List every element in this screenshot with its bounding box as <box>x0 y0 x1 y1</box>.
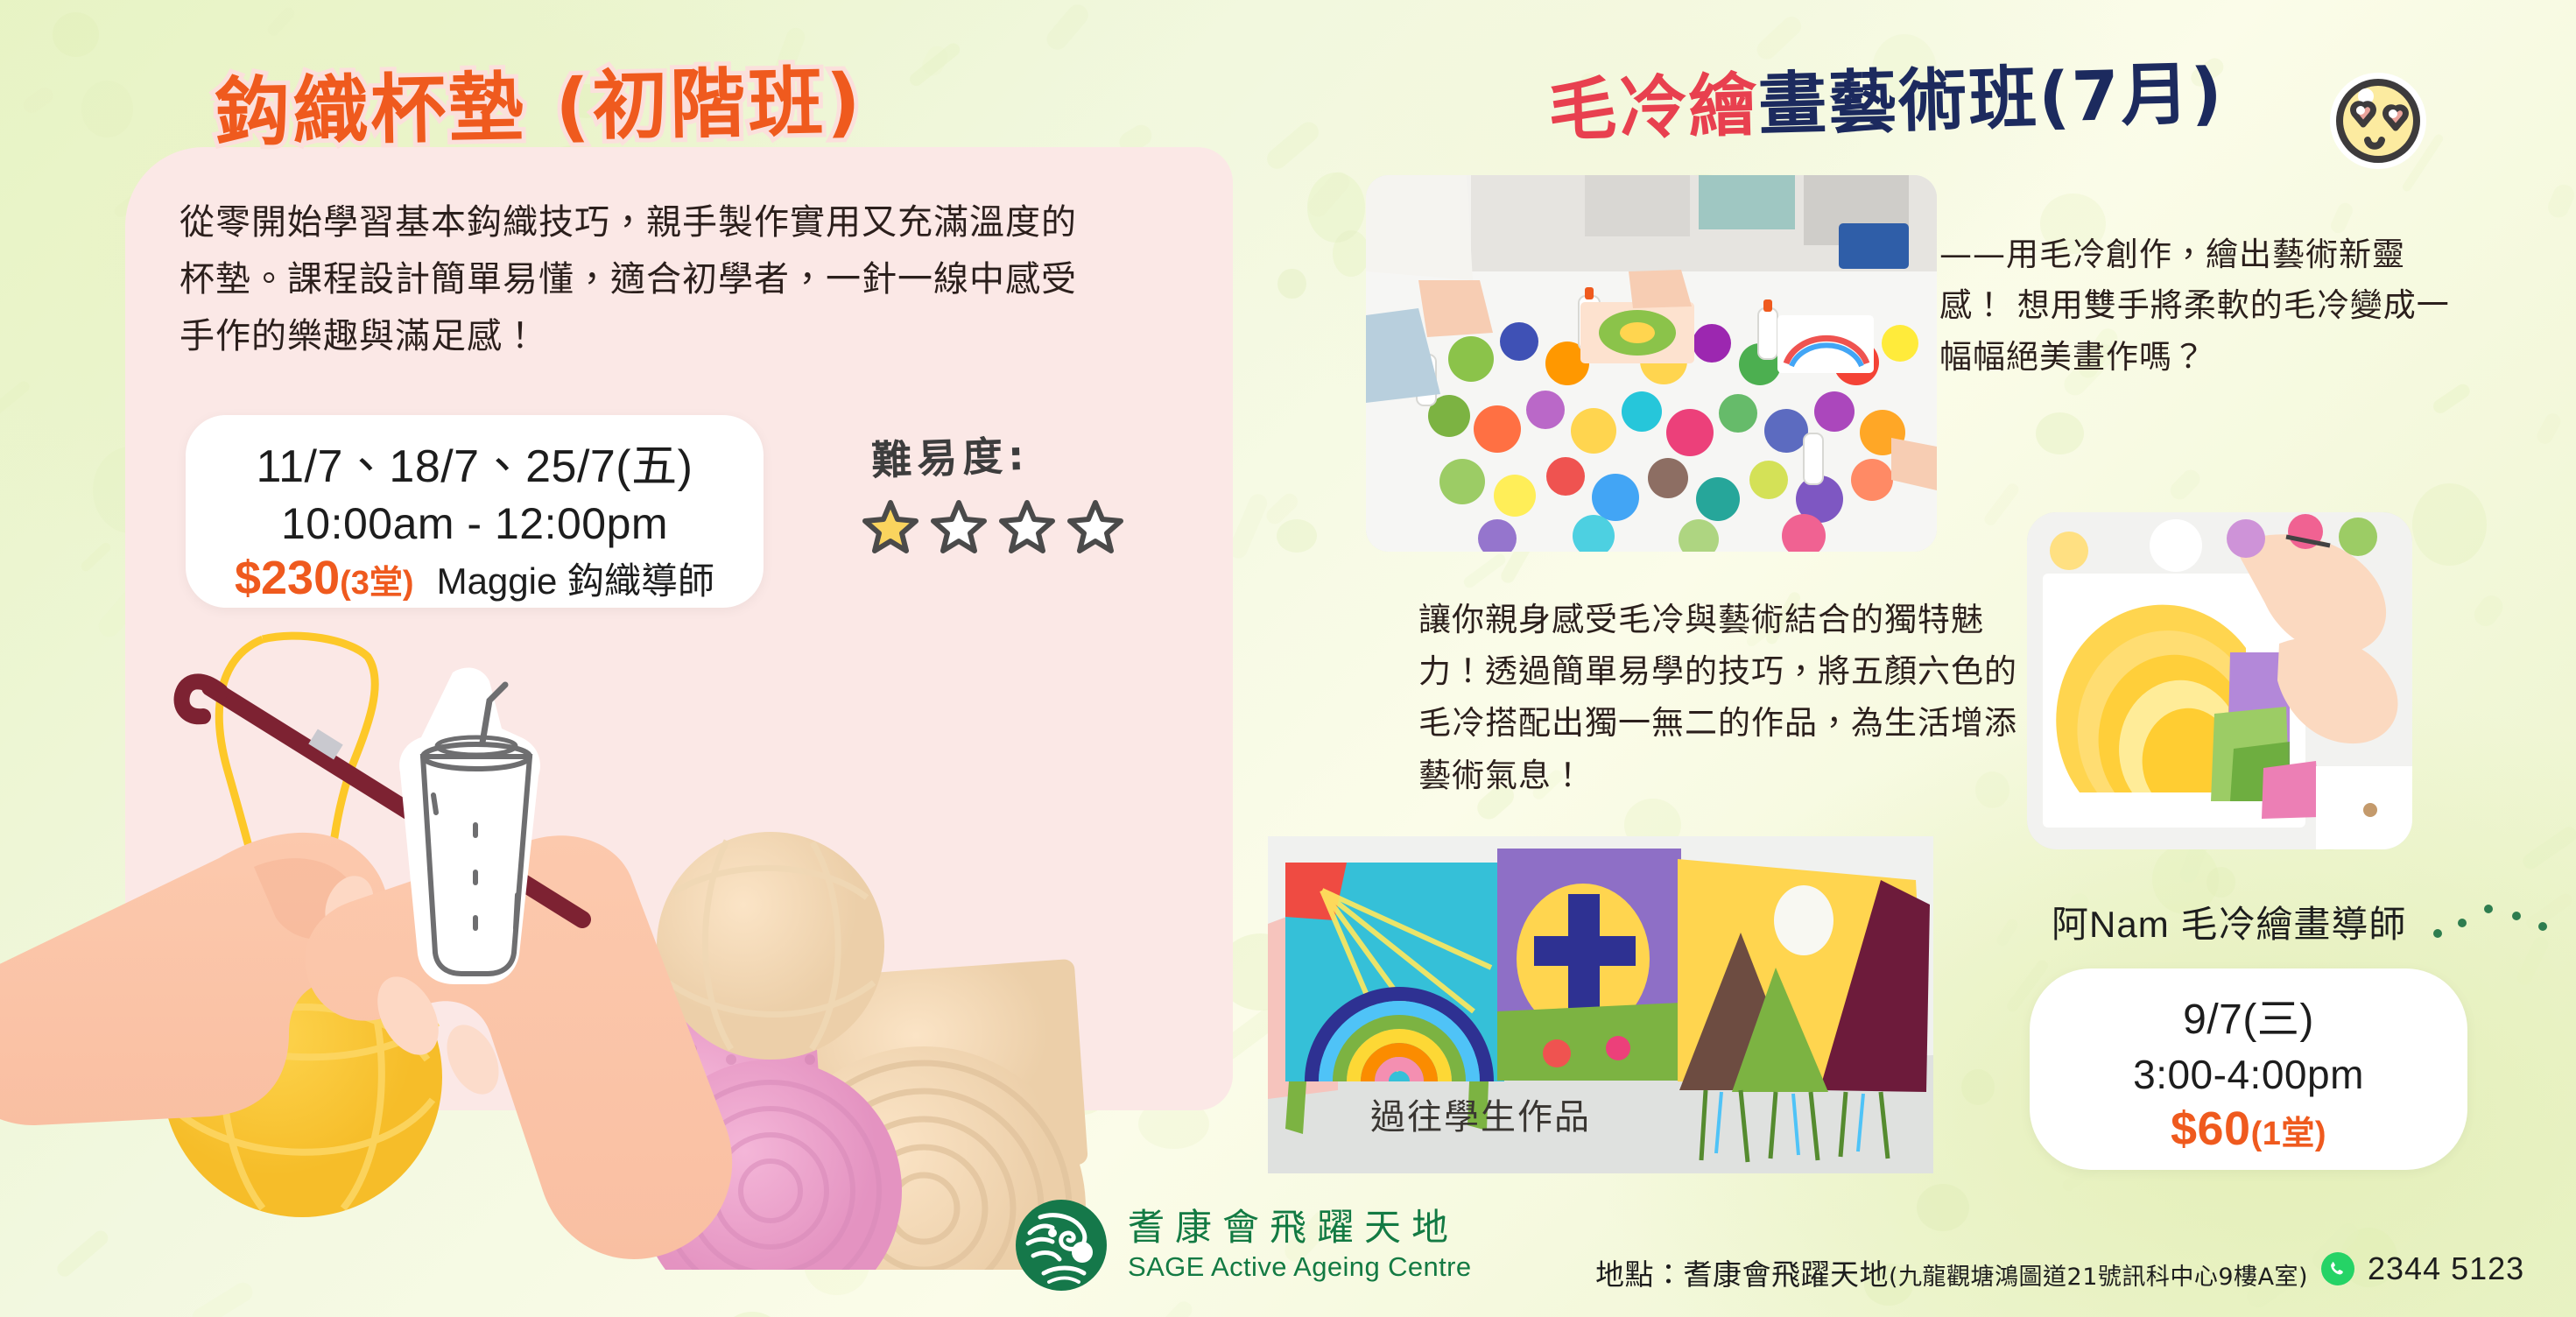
left-course-dates: 11/7、18/7、25/7(五) <box>186 429 764 495</box>
difficulty-block: 難易度: <box>871 425 1123 554</box>
org-name-en: SAGE Active Ageing Centre <box>1128 1251 1472 1283</box>
photo-hands-making-art <box>2027 512 2412 849</box>
sage-dragon-logo-icon <box>1014 1198 1109 1292</box>
student-works-caption: 過往學生作品 <box>1370 1088 1591 1139</box>
difficulty-label: 難易度: <box>870 420 1124 487</box>
left-course-sessions: (3堂) <box>340 565 413 602</box>
decorative-dots <box>2432 900 2555 946</box>
organisation-name: 耆康會飛躍天地 SAGE Active Ageing Centre <box>1128 1208 1472 1283</box>
poster-root: 鈎織杯墊 (初階班) 從零開始學習基本鈎織技巧，親手製作實用又充滿溫度的杯墊。課… <box>0 0 2576 1317</box>
star-icon-empty <box>999 498 1055 554</box>
right-course-time: 3:00-4:00pm <box>2030 1051 2467 1098</box>
right-course-date: 9/7(三) <box>2030 984 2467 1046</box>
left-course-price-group: $230(3堂) <box>235 551 414 605</box>
heart-eyes-emoji-icon <box>2312 65 2443 177</box>
right-course-title-part1: 毛冷繪 <box>1547 67 1759 151</box>
photo-student-works <box>1268 836 1933 1173</box>
left-course-time: 10:00am - 12:00pm <box>186 498 764 549</box>
right-course-tutor: 阿Nam 毛冷繪畫導師 <box>2052 895 2406 948</box>
photo-workshop-table <box>1366 175 1937 552</box>
right-course-description-mid: 讓你親身感受毛冷與藝術結合的獨特魅力！透過簡單易學的技巧，將五顏六色的毛冷搭配出… <box>1418 594 2023 801</box>
contact-phone-group[interactable]: 2344 5123 <box>2320 1250 2524 1287</box>
right-course-sessions: (1堂) <box>2251 1116 2326 1152</box>
star-icon-empty <box>931 498 987 554</box>
left-course-title: 鈎織杯墊 (初階班) <box>214 40 864 161</box>
right-course-price-group: $60(1堂) <box>2030 1102 2467 1156</box>
footer-organisation-logo: 耆康會飛躍天地 SAGE Active Ageing Centre <box>1014 1198 1472 1292</box>
right-course-info-card: 9/7(三) 3:00-4:00pm $60(1堂) <box>2030 968 2467 1170</box>
venue-address-main: 地點：耆康會飛躍天地 <box>1595 1257 1889 1292</box>
whatsapp-icon[interactable] <box>2320 1251 2355 1286</box>
left-course-tutor: Maggie 鈎織導師 <box>437 552 714 605</box>
crochet-illustration <box>0 604 1278 1270</box>
left-course-info-card: 11/7、18/7、25/7(五) 10:00am - 12:00pm $230… <box>186 415 764 608</box>
org-name-zh: 耆康會飛躍天地 <box>1128 1208 1472 1248</box>
venue-address: 地點：耆康會飛躍天地(九龍觀塘鴻圖道21號訊科中心9樓A室) <box>1595 1251 2308 1293</box>
yarn-ball-cream <box>657 832 884 1060</box>
difficulty-stars <box>862 498 1123 554</box>
drink-cup-doodle-sticker <box>398 666 560 990</box>
right-course-description-top: ——用毛冷創作，繪出藝術新靈感！ 想用雙手將柔軟的毛冷變成一幅幅絕美畫作嗎？ <box>1939 229 2465 383</box>
right-course-title-part2: 畫藝術班(7月) <box>1757 54 2225 145</box>
left-course-description: 從零開始學習基本鈎織技巧，親手製作實用又充滿溫度的杯墊。課程設計簡單易懂，適合初… <box>179 194 1094 364</box>
right-course-title: 毛冷繪畫藝術班(7月) <box>1547 39 2225 154</box>
right-course-price: $60 <box>2171 1102 2251 1155</box>
venue-address-detail: (九龍觀塘鴻圖道21號訊科中心9樓A室) <box>1889 1264 2308 1291</box>
left-course-price: $230 <box>235 552 340 604</box>
contact-phone-number: 2344 5123 <box>2368 1250 2524 1287</box>
star-icon-empty <box>1067 498 1123 554</box>
star-icon-filled <box>862 498 918 554</box>
